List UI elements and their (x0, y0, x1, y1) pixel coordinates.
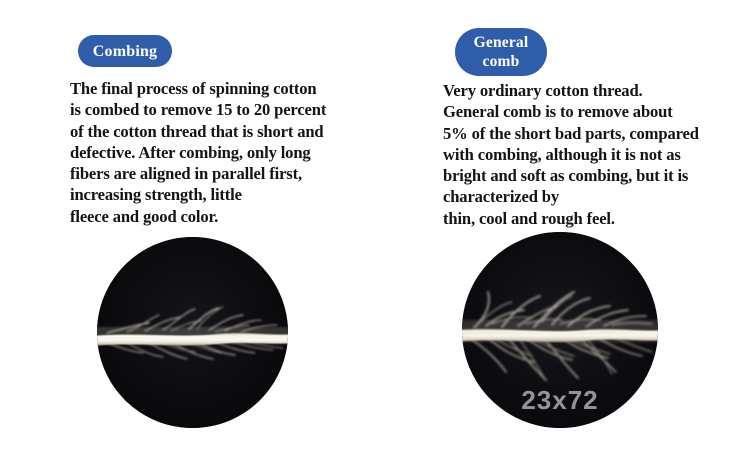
general-comb-description: Very ordinary cotton thread. General com… (443, 80, 748, 229)
badge-general-comb: General comb (455, 28, 547, 76)
general-comb-cotton-thread-photo: 23x72 (462, 232, 658, 428)
combing-column: Combing The final process of spinning co… (70, 0, 400, 464)
badge-combing: Combing (78, 35, 172, 67)
cotton-comparison-infographic: Combing The final process of spinning co… (0, 0, 750, 464)
general-comb-column: General comb Very ordinary cotton thread… (443, 0, 743, 464)
badge-general-comb-line1: General (474, 33, 529, 52)
general-comb-thread-illustration (462, 232, 658, 428)
combed-cotton-thread-photo (97, 237, 288, 428)
combing-description: The final process of spinning cotton is … (70, 78, 400, 227)
combed-thread-illustration (97, 237, 288, 428)
badge-combing-label: Combing (93, 43, 158, 60)
badge-general-comb-line2: comb (483, 52, 520, 71)
